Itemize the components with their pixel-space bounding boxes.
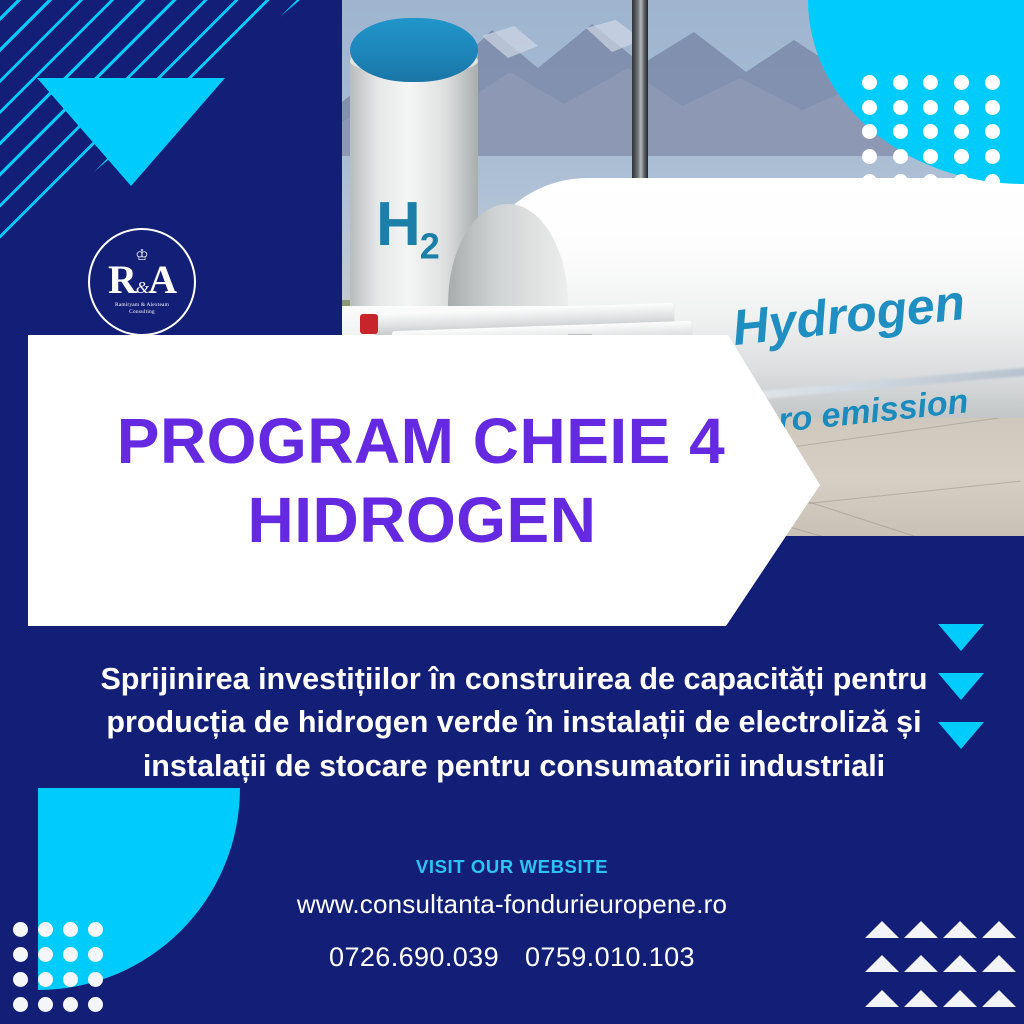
phone-numbers: 0726.690.039 0759.010.103 [0,942,1024,973]
phone-number-2[interactable]: 0759.010.103 [525,942,695,973]
visit-website-label: VISIT OUR WEBSITE [0,856,1024,878]
description-text: Sprijinirea investițiilor în construirea… [96,658,932,788]
title-banner: PROGRAM CHEIE 4 HIDROGEN [28,335,820,626]
triangle-up-icon [904,990,938,1007]
website-url[interactable]: www.consultanta-fondurieuropene.ro [0,889,1024,920]
chevron-down-icon [938,673,984,700]
logo-caption: Ramiryam & Alexteam Consulting [115,302,169,316]
tank-h2-label: H2 [376,194,439,264]
page-title-line2: HIDROGEN [72,481,772,559]
triangle-up-icon [982,990,1016,1007]
page-title-line1: PROGRAM CHEIE 4 [72,402,772,480]
phone-number-1[interactable]: 0726.690.039 [329,942,499,973]
triangle-up-icon [943,990,977,1007]
company-logo-badge[interactable]: ♔ R&A Ramiryam & Alexteam Consulting [88,228,196,336]
dot-grid-top-right [854,70,1008,194]
chevron-down-icon [938,624,984,651]
footer-contact-block: VISIT OUR WEBSITE www.consultanta-fondur… [0,856,1024,973]
triangle-up-icon [865,990,899,1007]
poster-canvas: H2 Hydrogen H2 zero emission [0,0,1024,1024]
chevron-down-group [938,624,984,749]
triangle-down-icon [37,78,225,186]
logo-monogram: R&A [108,261,176,299]
chevron-down-icon [938,722,984,749]
